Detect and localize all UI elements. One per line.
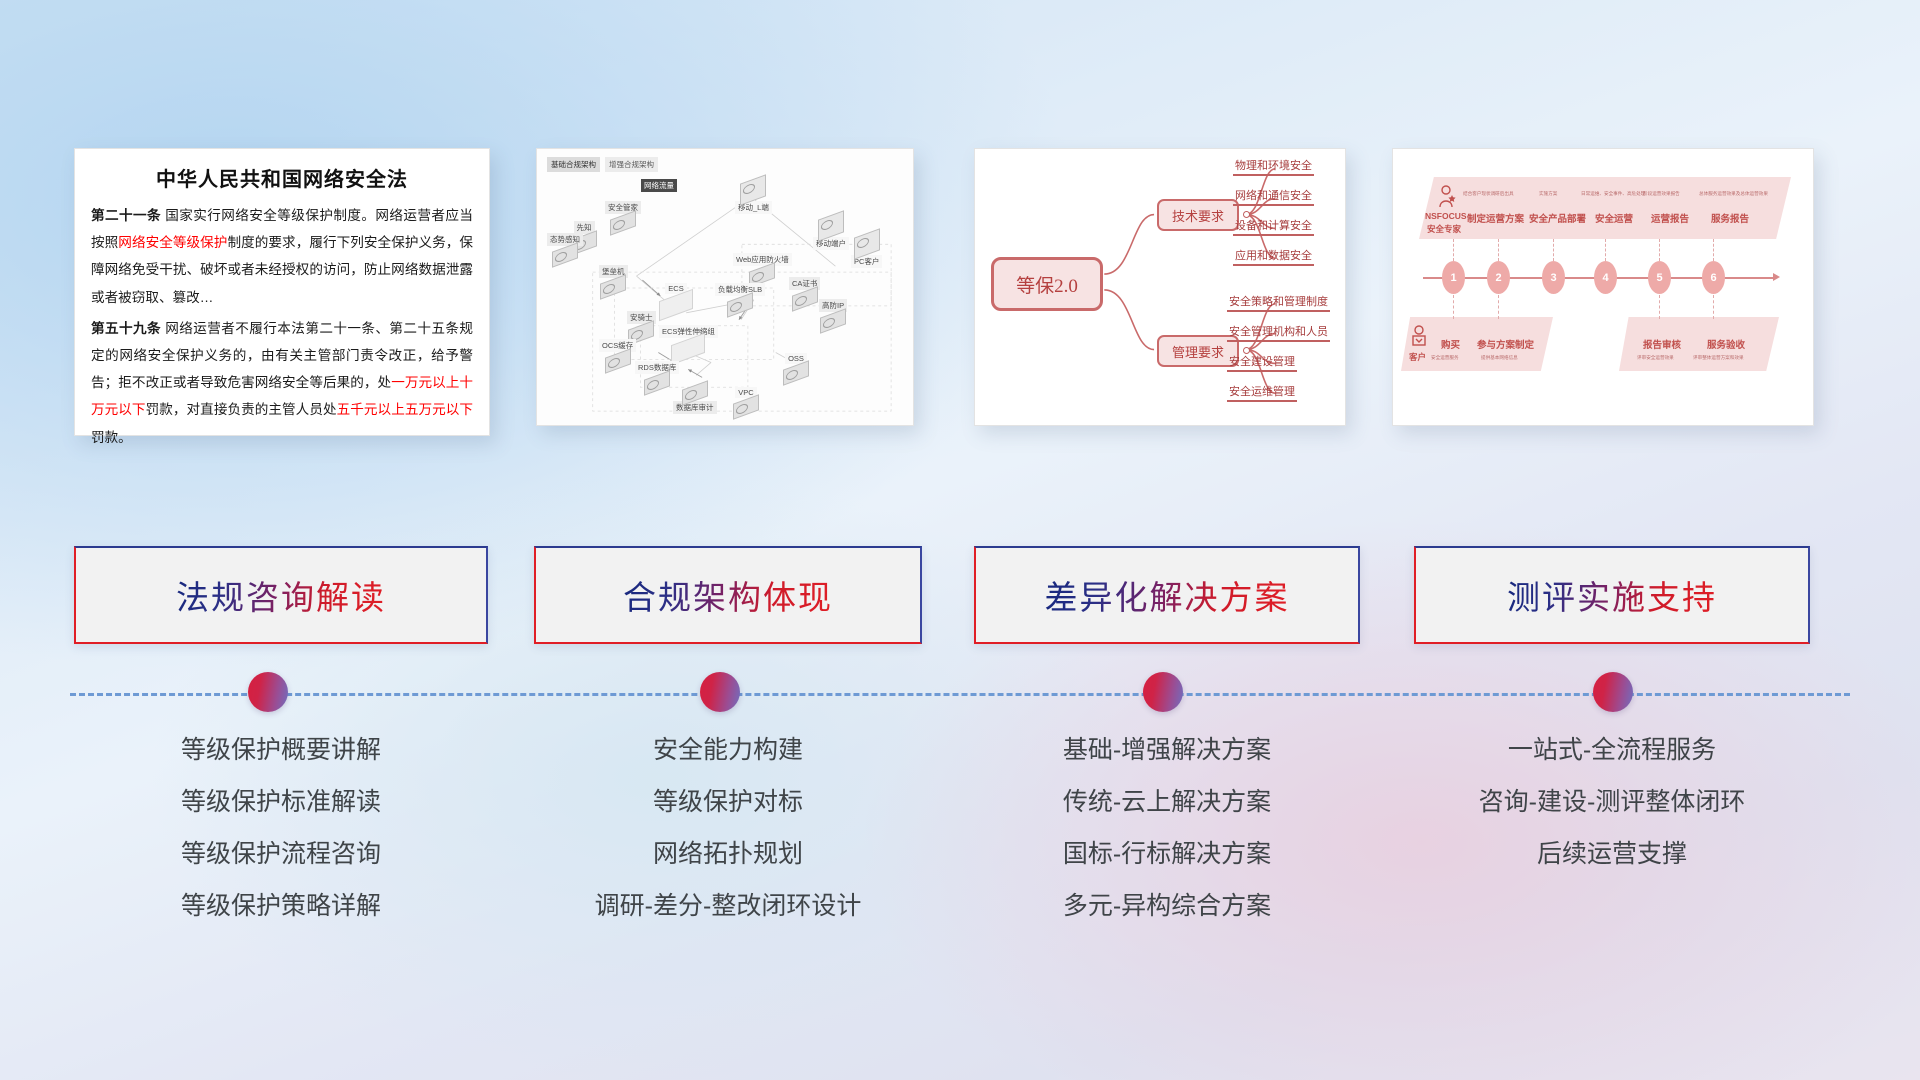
- nsfocus-bottom-sub-3: 评审安全运营效果: [1637, 355, 1674, 361]
- nsfocus-bottom-main-2: 参与方案制定: [1477, 337, 1534, 351]
- list-item: 调研-差分-整改闭环设计: [534, 894, 922, 919]
- nsfocus-expert-role-label: 安全专家: [1427, 223, 1461, 235]
- law-article-59: 第五十九条 网络运营者不履行本法第二十一条、第二十五条规定的网络安全保护义务的，…: [91, 315, 473, 451]
- nsfocus-connector: [1713, 295, 1714, 319]
- title-label: 差异化解决方案: [1045, 571, 1290, 619]
- nsfocus-top-main-3: 安全运营: [1595, 211, 1633, 225]
- arch-node-situational-awareness: 态势感知: [547, 233, 583, 263]
- mindmap-leaf-tech-1: 物理和环境安全: [1233, 157, 1314, 176]
- title-label: 测评实施支持: [1507, 571, 1717, 619]
- nsfocus-step-6: 6: [1702, 261, 1725, 294]
- timeline-dot-2[interactable]: [700, 672, 740, 712]
- arch-node-security-steward: 安全管家: [605, 201, 641, 231]
- architecture-diagram: 基础合规架构 增强合规架构: [537, 149, 913, 425]
- nsfocus-connector: [1453, 295, 1454, 319]
- law-card-body: 第二十一条 国家实行网络安全等级保护制度。网络运营者应当按照网络安全等级保护制度…: [75, 202, 489, 465]
- arch-node-vpc: VPC: [733, 387, 759, 415]
- slide-canvas: 中华人民共和国网络安全法 第二十一条 国家实行网络安全等级保护制度。网络运营者应…: [0, 0, 1920, 1080]
- list-item: 等级保护策略详解: [74, 894, 488, 919]
- nsfocus-step-1: 1: [1442, 261, 1465, 294]
- nsfocus-top-sub-3: 日常运维、安全事件、高危处理: [1581, 191, 1645, 197]
- arch-node-anti-ddos-ip: 高防IP: [819, 299, 847, 329]
- list-item: 安全能力构建: [534, 738, 922, 763]
- law-article-59-highlight-2: 五千元以上五万元以下: [337, 402, 473, 417]
- title-box-differentiated-solution[interactable]: 差异化解决方案: [974, 546, 1360, 644]
- mindmap-leaf-tech-3: 设备和计算安全: [1233, 217, 1314, 236]
- title-label: 法规咨询解读: [176, 571, 386, 619]
- nsfocus-top-main-4: 运营报告: [1651, 211, 1689, 225]
- list-item: 咨询-建设-测评整体闭环: [1414, 790, 1810, 815]
- person-star-icon: [1437, 185, 1459, 209]
- list-item: 一站式-全流程服务: [1414, 738, 1810, 763]
- law-article-59-text-b: 罚款，对直接负责的主管人员处: [146, 402, 337, 417]
- nsfocus-top-sub-2: 实施方案: [1539, 191, 1557, 197]
- arch-node-ecs: ECS: [659, 283, 693, 315]
- nsfocus-connector: [1659, 295, 1660, 319]
- timeline-dot-1[interactable]: [248, 672, 288, 712]
- nsfocus-connector: [1659, 239, 1660, 261]
- nsfocus-top-band: [1419, 177, 1791, 239]
- nsfocus-connector: [1453, 239, 1454, 261]
- arch-node-ca-certificate: CA证书: [789, 277, 820, 307]
- arch-node-network-traffic: 网络流量: [641, 179, 677, 193]
- nsfocus-step-2: 2: [1487, 261, 1510, 294]
- expert-avatar-icon: [1437, 185, 1459, 214]
- list-item: 多元-异构综合方案: [974, 894, 1360, 919]
- customer-avatar-icon: [1409, 325, 1429, 354]
- nsfocus-connector: [1498, 239, 1499, 261]
- arch-node-pc-client: PC客户: [851, 233, 882, 269]
- arch-node-web-app-firewall: Web应用防火墙: [733, 253, 792, 283]
- nsfocus-step-3: 3: [1542, 261, 1565, 294]
- nsfocus-step-5: 5: [1648, 261, 1671, 294]
- title-box-compliance-architecture[interactable]: 合规架构体现: [534, 546, 922, 644]
- nsfocus-top-sub-4: 阶段运营效果报告: [1643, 191, 1680, 197]
- title-boxes-row: 法规咨询解读 合规架构体现 差异化解决方案 测评实施支持: [0, 546, 1920, 646]
- list-item: 传统-云上解决方案: [974, 790, 1360, 815]
- law-article-59-label: 第五十九条: [91, 321, 161, 336]
- law-article-21-label: 第二十一条: [91, 208, 161, 223]
- nsfocus-connector: [1553, 239, 1554, 261]
- feature-list-differentiated-solution: 基础-增强解决方案 传统-云上解决方案 国标-行标解决方案 多元-异构综合方案: [974, 738, 1360, 946]
- title-box-regulation-consulting[interactable]: 法规咨询解读: [74, 546, 488, 644]
- nsfocus-bottom-sub-2: 提供基本网络信息: [1481, 355, 1518, 361]
- arch-node-slb: 负载均衡SLB: [715, 283, 765, 313]
- arch-node-ocs-cache: OCS缓存: [599, 339, 636, 369]
- law-article-21: 第二十一条 国家实行网络安全等级保护制度。网络运营者应当按照网络安全等级保护制度…: [91, 202, 473, 311]
- arch-node-bastion-host: 堡垒机: [599, 265, 628, 295]
- list-item: 等级保护概要讲解: [74, 738, 488, 763]
- mindmap-leaf-tech-4: 应用和数据安全: [1233, 247, 1314, 266]
- nsfocus-timeline-diagram: NSFOCUS 安全专家 客户 结合客户现状调研后出具 制定运营方案 实施方案 …: [1393, 149, 1813, 425]
- list-item: 后续运营支撑: [1414, 842, 1810, 867]
- arch-node-anqishi: 安骑士: [627, 311, 656, 341]
- arch-node-mobile-end: 移动_L端: [735, 179, 772, 215]
- mindmap-leaf-tech-2: 网络和通信安全: [1233, 187, 1314, 206]
- list-item: 等级保护流程咨询: [74, 842, 488, 867]
- list-item: 网络拓扑规划: [534, 842, 922, 867]
- law-preview-card[interactable]: 中华人民共和国网络安全法 第二十一条 国家实行网络安全等级保护制度。网络运营者应…: [74, 148, 490, 436]
- nsfocus-bottom-main-1: 购买: [1441, 337, 1460, 351]
- nsfocus-connector: [1498, 295, 1499, 319]
- arch-node-ecs-autoscaling: ECS弹性伸缩组: [659, 325, 718, 359]
- nsfocus-top-sub-5: 总体服务运营效果及总体运营效果: [1699, 191, 1768, 197]
- law-card-title: 中华人民共和国网络安全法: [75, 149, 489, 202]
- list-item: 基础-增强解决方案: [974, 738, 1360, 763]
- timeline-dashed-line: [70, 693, 1850, 696]
- list-item: 等级保护标准解读: [74, 790, 488, 815]
- nsfocus-connector: [1605, 239, 1606, 261]
- nsfocus-customer-role-label: 客户: [1409, 351, 1426, 363]
- list-item: 国标-行标解决方案: [974, 842, 1360, 867]
- arch-node-db-audit: 数据库审计: [673, 385, 717, 415]
- feature-list-regulation-consulting: 等级保护概要讲解 等级保护标准解读 等级保护流程咨询 等级保护策略详解: [74, 738, 488, 946]
- nsfocus-bottom-main-4: 服务验收: [1707, 337, 1745, 351]
- nsfocus-top-sub-1: 结合客户现状调研后出具: [1463, 191, 1514, 197]
- nsfocus-top-main-1: 制定运营方案: [1467, 211, 1524, 225]
- nsfocus-connector: [1713, 239, 1714, 261]
- mindmap-preview-card[interactable]: 等保2.0 技术要求 管理要求 物理和环境安全 网络和通信安全 设备和计算安全 …: [974, 148, 1346, 426]
- mindmap-leaf-mgmt-3: 安全建设管理: [1227, 353, 1297, 372]
- feature-list-compliance-architecture: 安全能力构建 等级保护对标 网络拓扑规划 调研-差分-整改闭环设计: [534, 738, 922, 946]
- nsfocus-bottom-sub-4: 评审整体运营方案和效果: [1693, 355, 1744, 361]
- mindmap-branch-technical: 技术要求: [1157, 199, 1239, 231]
- nsfocus-bottom-main-3: 报告审核: [1643, 337, 1681, 351]
- nsfocus-brand-label: NSFOCUS: [1425, 211, 1467, 221]
- feature-list-assessment-support: 一站式-全流程服务 咨询-建设-测评整体闭环 后续运营支撑: [1414, 738, 1810, 894]
- nsfocus-bottom-sub-1: 安全运营服务: [1431, 355, 1459, 361]
- timeline-track: [0, 672, 1920, 716]
- list-item: 等级保护对标: [534, 790, 922, 815]
- mindmap-diagram: 等保2.0 技术要求 管理要求 物理和环境安全 网络和通信安全 设备和计算安全 …: [975, 149, 1345, 425]
- law-article-59-text-c: 罚款。: [91, 430, 132, 445]
- mindmap-leaf-mgmt-1: 安全策略和管理制度: [1227, 293, 1330, 312]
- title-box-assessment-support[interactable]: 测评实施支持: [1414, 546, 1810, 644]
- feature-lists-row: 等级保护概要讲解 等级保护标准解读 等级保护流程咨询 等级保护策略详解 安全能力…: [0, 738, 1920, 958]
- mindmap-root-node: 等保2.0: [991, 257, 1103, 311]
- law-article-21-highlight: 网络安全等级保护: [118, 235, 227, 250]
- person-check-icon: [1409, 325, 1429, 349]
- arch-node-mobile-client: 移动端户: [813, 215, 849, 251]
- nsfocus-axis-arrow-icon: [1773, 273, 1780, 281]
- timeline-dot-4[interactable]: [1593, 672, 1633, 712]
- nsfocus-top-main-2: 安全产品部署: [1529, 211, 1586, 225]
- nsfocus-preview-card[interactable]: NSFOCUS 安全专家 客户 结合客户现状调研后出具 制定运营方案 实施方案 …: [1392, 148, 1814, 426]
- mindmap-leaf-mgmt-2: 安全管理机构和人员: [1227, 323, 1330, 342]
- nsfocus-top-main-5: 服务报告: [1711, 211, 1749, 225]
- nsfocus-step-4: 4: [1594, 261, 1617, 294]
- mindmap-leaf-mgmt-4: 安全运维管理: [1227, 383, 1297, 402]
- architecture-preview-card[interactable]: 基础合规架构 增强合规架构: [536, 148, 914, 426]
- timeline-dot-3[interactable]: [1143, 672, 1183, 712]
- title-label: 合规架构体现: [623, 571, 833, 619]
- preview-cards-row: 中华人民共和国网络安全法 第二十一条 国家实行网络安全等级保护制度。网络运营者应…: [0, 148, 1920, 448]
- arch-node-oss: OSS: [783, 353, 809, 381]
